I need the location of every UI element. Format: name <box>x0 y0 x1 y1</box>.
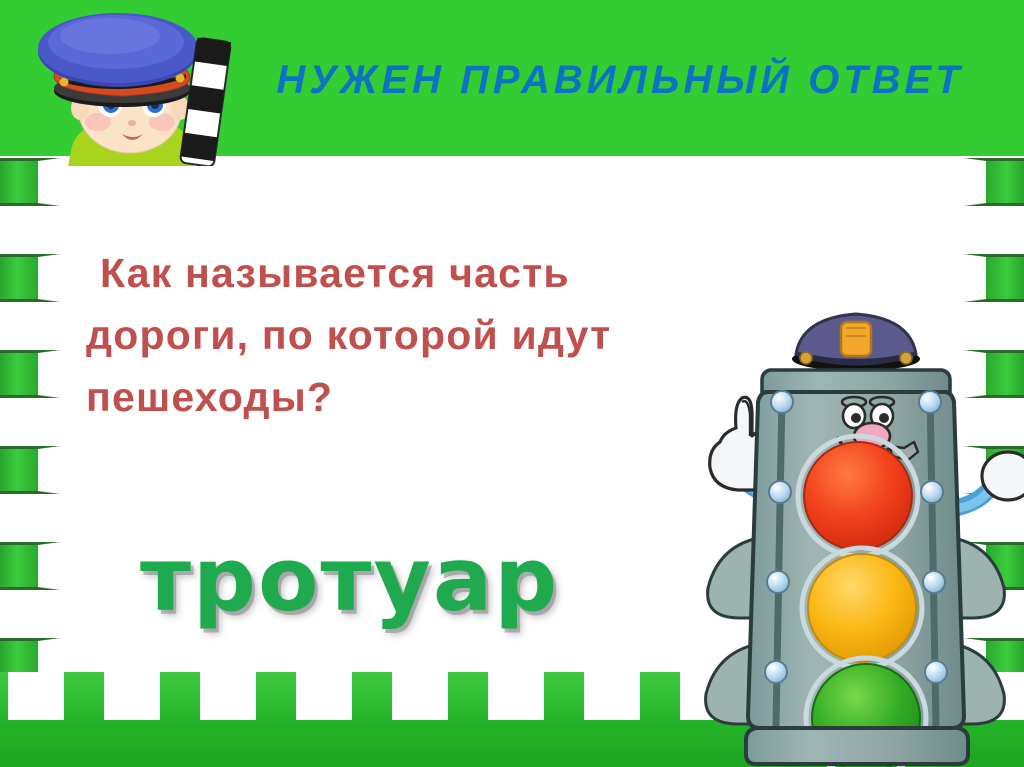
border-comb-left <box>0 156 60 678</box>
comb-tooth <box>0 254 60 302</box>
question-line-1: Как называется часть <box>86 242 746 304</box>
footer-notch <box>392 672 448 720</box>
footer-notch <box>8 672 64 720</box>
traffic-light-character <box>686 296 1024 767</box>
comb-tooth <box>0 446 60 494</box>
footer-notch <box>200 672 256 720</box>
answer-word: тротуар <box>140 528 559 631</box>
slide-canvas: НУЖЕН ПРАВИЛЬНЫЙ ОТВЕТ <box>0 0 1024 767</box>
comb-tooth <box>0 350 60 398</box>
comb-tooth <box>964 158 1024 206</box>
footer-notch <box>104 672 160 720</box>
footer-notch <box>488 672 544 720</box>
footer-notch <box>296 672 352 720</box>
comb-tooth <box>0 542 60 590</box>
boy-policeman-illustration <box>10 0 240 166</box>
page-title: НУЖЕН ПРАВИЛЬНЫЙ ОТВЕТ <box>225 58 1015 103</box>
question-text: Как называется часть дороги, по которой … <box>86 242 746 428</box>
question-line-2: дороги, по которой идут <box>86 304 746 366</box>
footer-notch <box>584 672 640 720</box>
comb-tooth <box>964 254 1024 302</box>
question-line-3: пешеходы? <box>86 366 746 428</box>
